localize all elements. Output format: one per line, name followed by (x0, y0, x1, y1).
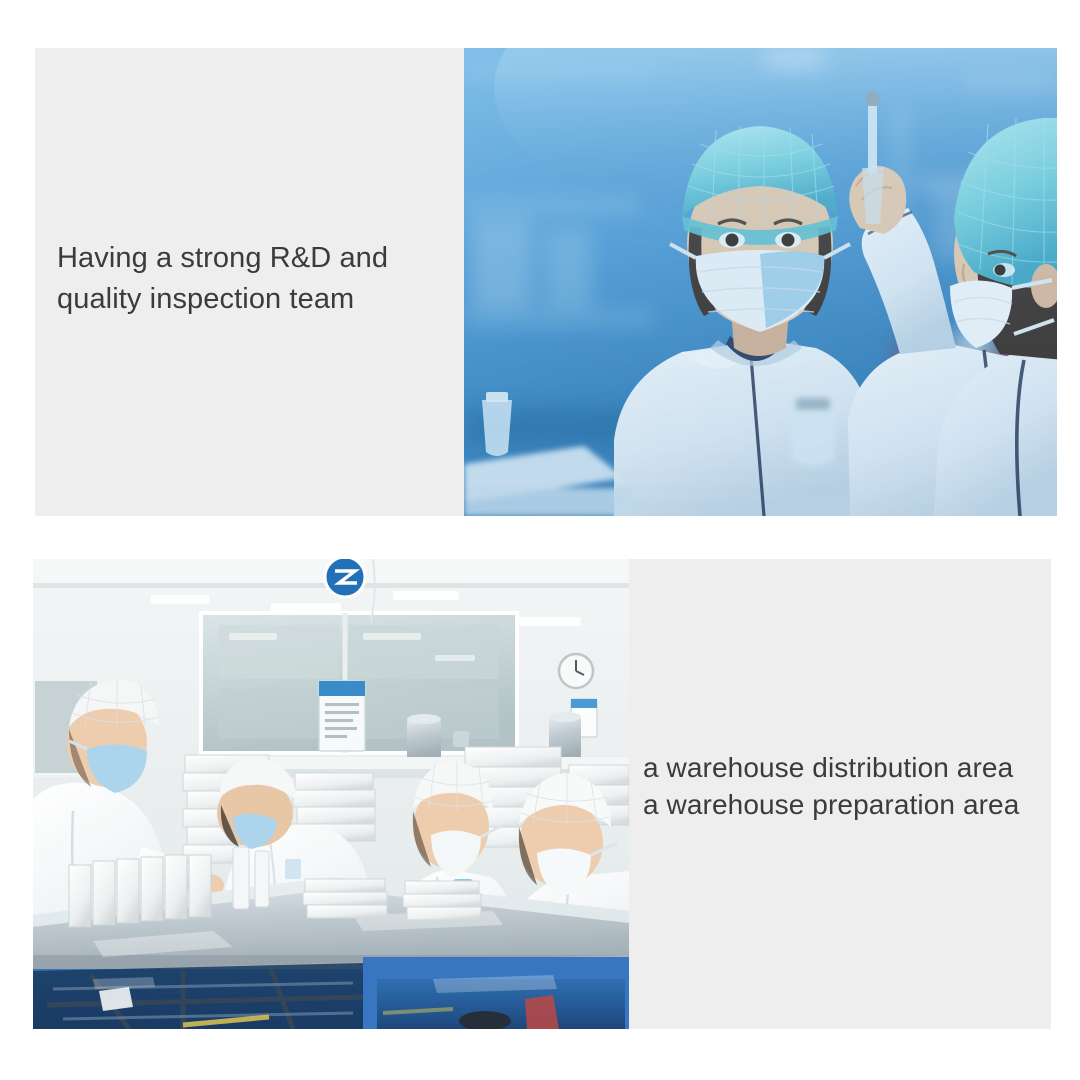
warehouse-caption-panel: a warehouse distribution area a warehous… (629, 559, 1051, 1029)
lab-technicians-photo (464, 48, 1057, 516)
lab-technicians-illustration (464, 48, 1057, 516)
rnd-caption-text: Having a strong R&D and quality inspecti… (57, 238, 457, 320)
poster-page: Having a strong R&D and quality inspecti… (0, 0, 1080, 1080)
warehouse-packing-photo (33, 559, 629, 1029)
warehouse-block: a warehouse distribution area a warehous… (33, 559, 1051, 1029)
rnd-quality-block: Having a strong R&D and quality inspecti… (35, 48, 1057, 516)
warehouse-caption-text: a warehouse distribution area a warehous… (643, 749, 1055, 823)
rnd-caption-panel: Having a strong R&D and quality inspecti… (35, 48, 465, 516)
warehouse-packing-illustration (33, 559, 629, 1029)
